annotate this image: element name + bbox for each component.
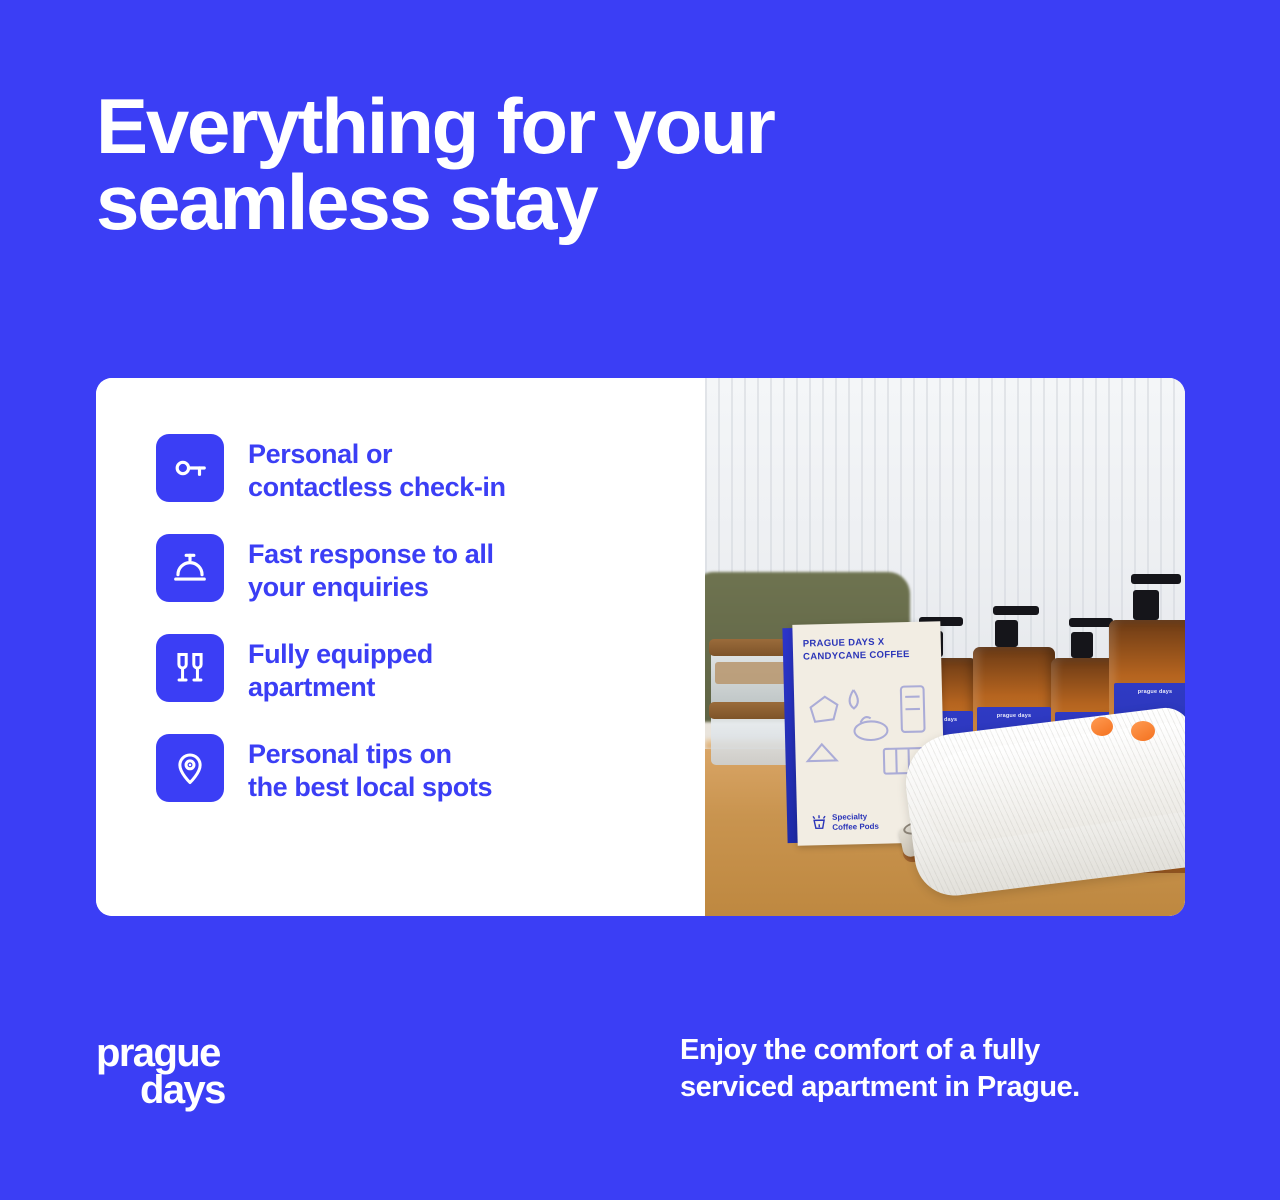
headline-line-1: Everything for your (96, 88, 1146, 164)
feature-line-1: Fast response to all (248, 539, 494, 569)
features-list: Personal or contactless check-in Fast re… (96, 378, 705, 916)
glasses-icon (156, 634, 224, 702)
photo-jar-contents (715, 662, 789, 684)
photo-earplug-left (1091, 717, 1113, 736)
coffee-pod-icon (811, 814, 827, 832)
feature-line-2: contactless check-in (248, 472, 506, 502)
feature-label-apartment: Fully equipped apartment (248, 634, 433, 704)
logo-line-days: days (96, 1072, 225, 1109)
key-icon (156, 434, 224, 502)
headline-line-2: seamless stay (96, 164, 1146, 240)
photo-pump-arm-shampoo (1069, 618, 1113, 627)
photo-label-brand: prague days (1114, 690, 1185, 696)
feature-line-1: Fully equipped (248, 639, 433, 669)
brand-logo: prague days (96, 1035, 225, 1109)
feature-item-apartment: Fully equipped apartment (156, 634, 705, 704)
location-pin-icon (156, 734, 224, 802)
photo-coffee-badge: Specialty Coffee Pods (811, 812, 879, 833)
features-card: Personal or contactless check-in Fast re… (96, 378, 1185, 916)
feature-label-check-in: Personal or contactless check-in (248, 434, 506, 504)
photo-pump-soap (995, 620, 1018, 647)
photo-pump-arm-soap (993, 606, 1039, 615)
photo-glass-jar-upper (711, 650, 793, 709)
feature-item-local-tips: Personal tips on the best local spots (156, 734, 705, 804)
page-title: Everything for your seamless stay (96, 88, 1146, 241)
tagline-line-2: serviced apartment in Prague. (680, 1069, 1200, 1106)
photo-coffee-title: PRAGUE DAYS x CANDYCANE COFFEE (803, 635, 934, 664)
photo-pump-arm-shower-gel (1131, 574, 1181, 584)
feature-label-local-tips: Personal tips on the best local spots (248, 734, 492, 804)
feature-line-2: apartment (248, 672, 375, 702)
feature-line-1: Personal or (248, 439, 392, 469)
photo-jar-lid-lower (709, 702, 795, 719)
photo-coffee-badge-text: Specialty Coffee Pods (832, 812, 879, 832)
feature-line-1: Personal tips on (248, 739, 452, 769)
photo-pump-shampoo (1071, 632, 1093, 658)
tagline-line-1: Enjoy the comfort of a fully (680, 1032, 1200, 1069)
footer-tagline: Enjoy the comfort of a fully serviced ap… (680, 1032, 1200, 1106)
photo-label-brand: prague days (977, 714, 1051, 720)
amenities-photo: prague days Dishwash gel Lemon prague da… (705, 378, 1185, 916)
feature-label-response: Fast response to all your enquiries (248, 534, 494, 604)
photo-glass-jar-lower (711, 712, 793, 766)
feature-line-2: the best local spots (248, 772, 492, 802)
feature-line-2: your enquiries (248, 572, 428, 602)
feature-item-check-in: Personal or contactless check-in (156, 434, 705, 504)
feature-item-response: Fast response to all your enquiries (156, 534, 705, 604)
photo-pump-shower-gel (1133, 590, 1159, 620)
bell-icon (156, 534, 224, 602)
